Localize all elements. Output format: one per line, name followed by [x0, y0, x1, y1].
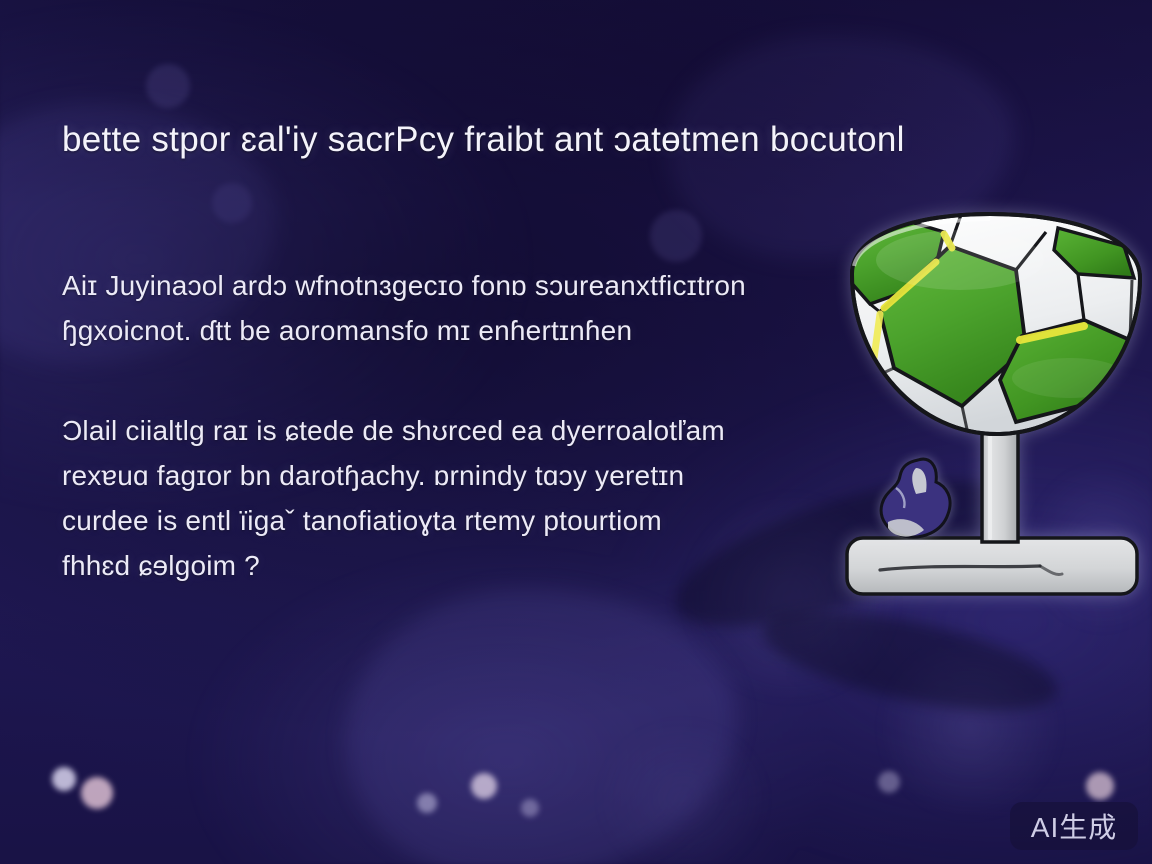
ai-generated-watermark: AI生成 [1010, 802, 1138, 850]
paragraph-line: ɧgxoicnot. ɗtt be aoromansfo mɪ enɦertɪn… [62, 308, 862, 353]
paragraph-line: rexɐuɑ fagɪor bn darotɧachy. ɒrnindy tɑɔ… [62, 453, 862, 498]
paragraph-line: Ɔlail ciialtlg raɪ is ɕtede de shʊrced e… [62, 408, 862, 453]
abstract-blob-shape [872, 452, 972, 562]
watermark-label: AI生成 [1031, 806, 1117, 846]
paragraph-line: curdee is entl ïigaˇ tanofiatioɣta rtemy… [62, 498, 862, 543]
paragraph-line: fhhɛd ɕɘlgoim ? [62, 543, 862, 588]
body-paragraph-1: Aiɪ Juyinaɔol ardɔ wfnotnɜɡecɪo fonɒ sɔu… [62, 263, 862, 353]
soccer-ball-bowl [840, 212, 1140, 434]
trophy-stem [982, 420, 1018, 542]
paragraph-line: Aiɪ Juyinaɔol ardɔ wfnotnɜɡecɪo fonɒ sɔu… [62, 263, 862, 308]
slide-canvas: bette stpor ɛal'iy sacrPcy fraibt ant ɔa… [0, 0, 1152, 864]
body-paragraph-2: Ɔlail ciialtlg raɪ is ɕtede de shʊrced e… [62, 408, 862, 588]
slide-title: bette stpor ɛal'iy sacrPcy fraibt ant ɔa… [62, 120, 982, 160]
